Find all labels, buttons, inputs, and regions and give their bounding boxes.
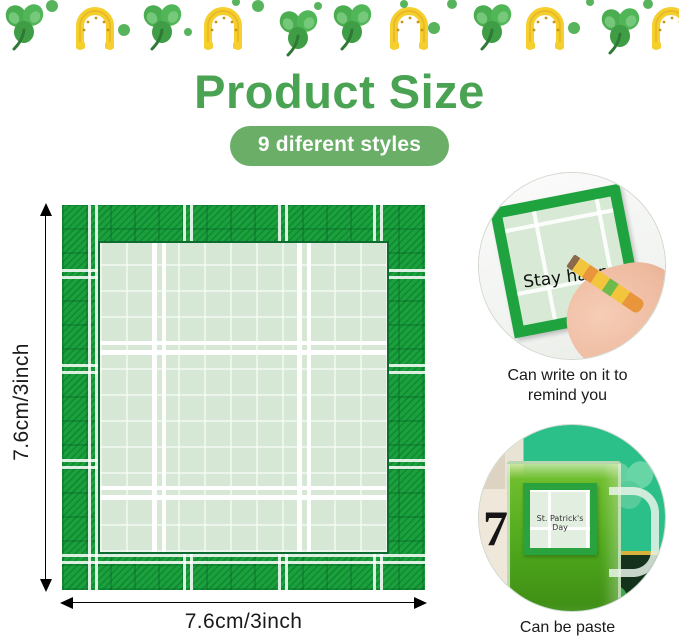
product-note-interior — [98, 241, 389, 554]
pasted-note-text: St. Patrick's Day — [530, 514, 590, 532]
product-image-plaid-note — [62, 205, 425, 590]
caption-paste-line1: Can be paste — [460, 618, 675, 638]
paste-scene: 7 St. Patrick's Day — [479, 425, 665, 611]
calendar-number: 7 — [483, 499, 508, 557]
hand-writing-on-note-photo: Stay happy — [478, 172, 666, 360]
dimension-arrow-left-icon — [60, 597, 73, 609]
page-title: Product Size — [0, 64, 679, 119]
pasted-note-interior: St. Patrick's Day — [530, 490, 590, 548]
vertical-dimension-line — [45, 205, 46, 590]
caption-paste: Can be paste — [460, 618, 675, 638]
decorative-top-border — [0, 0, 679, 58]
caption-write-line1: Can write on it to — [460, 366, 675, 386]
styles-badge-wrapper: 9 diferent styles — [0, 126, 679, 166]
mug-handle-graphic — [609, 487, 659, 577]
caption-write: Can write on it to remind you — [460, 366, 675, 406]
note-pasted-on-mug-photo: 7 St. Patrick's Day — [478, 424, 666, 612]
height-dimension-label: 7.6cm/3inch — [10, 332, 34, 472]
dimension-arrow-up-icon — [40, 203, 52, 216]
write-scene: Stay happy — [479, 173, 665, 359]
caption-write-line2: remind you — [460, 386, 675, 406]
status-badge: 9 diferent styles — [230, 126, 449, 166]
pasted-plaid-note: St. Patrick's Day — [523, 483, 597, 555]
decor-pattern-svg — [0, 0, 679, 58]
dimension-arrow-right-icon — [414, 597, 427, 609]
dimension-arrow-down-icon — [40, 579, 52, 592]
horizontal-dimension-line — [62, 602, 425, 603]
width-dimension-label: 7.6cm/3inch — [62, 610, 425, 634]
